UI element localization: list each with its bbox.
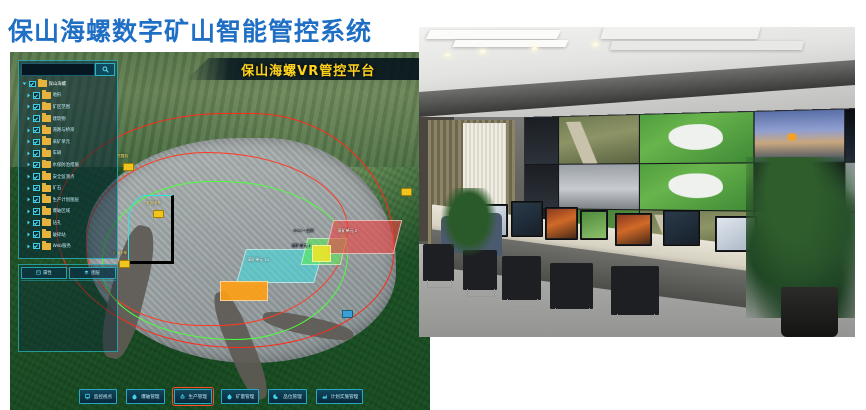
folder-icon (42, 138, 51, 145)
mining-unit-zone[interactable] (312, 245, 331, 261)
folder-icon (42, 243, 51, 250)
mining-unit-zone[interactable] (325, 220, 403, 254)
potted-plant (441, 188, 498, 256)
vehicle-label: 矿用卡车 (147, 201, 161, 206)
layer-tree-item-label: 破碎站 (53, 232, 66, 238)
layer-visibility-checkbox[interactable] (33, 185, 40, 192)
video-wall-screen (640, 163, 753, 210)
video-wall-screen (754, 109, 843, 162)
vr-map-screenshot[interactable]: RCC一台阶 采矿单元 10 采矿单元 2 采矿单元 1 挖掘机 矿用卡车 矿用… (10, 52, 430, 410)
layer-tree-item-label: 道路与桥梁 (53, 127, 75, 133)
layers-icon (84, 270, 89, 275)
vehicle-marker[interactable] (119, 260, 130, 268)
layer-tree-item-label: Web服务 (53, 243, 71, 249)
layer-tree-item-label: 矿区范围 (53, 104, 71, 110)
toolbar-button-2[interactable]: 生产管理 (174, 389, 212, 404)
layer-tree-item[interactable]: 采矿单元 (22, 136, 115, 148)
attribute-tab-label: 属性 (43, 270, 52, 276)
layer-tree-item[interactable]: 车辆 (22, 148, 115, 160)
page-title: 保山海螺数字矿山智能管控系统 (8, 12, 372, 48)
layer-tree-item-label: 采矿单元 (53, 139, 71, 145)
layer-tree-item[interactable]: 地形 (22, 90, 115, 102)
desk-monitor (511, 201, 544, 237)
attribute-panel-body (21, 280, 116, 350)
ore-icon (226, 393, 233, 400)
toolbar-button-5[interactable]: 计划实施管理 (316, 389, 364, 404)
desk-monitor (615, 213, 652, 246)
attribute-tab-label: 图层 (91, 270, 100, 276)
folder-icon (38, 80, 47, 87)
layer-visibility-checkbox[interactable] (33, 220, 40, 227)
plant-pot (781, 287, 838, 337)
layer-tree-item[interactable]: 道路与桥梁 (22, 124, 115, 136)
chevron-right-icon[interactable] (26, 116, 31, 121)
folder-icon (42, 208, 51, 215)
attribute-tab-0[interactable]: 属性 (21, 267, 68, 279)
zone-label: 采矿单元 2 (338, 229, 357, 233)
production-icon (179, 393, 186, 400)
monitor-icon (84, 393, 91, 400)
chevron-right-icon[interactable] (26, 197, 31, 202)
chevron-right-icon[interactable] (26, 162, 31, 167)
folder-icon (42, 196, 51, 203)
video-wall-screen (845, 108, 855, 162)
vehicle-label: 挖掘机 (117, 154, 128, 159)
layer-tree-item[interactable]: 安全监测点 (22, 171, 115, 183)
video-wall-screen (525, 117, 558, 164)
toolbar-button-4[interactable]: 品位管理 (268, 389, 306, 404)
chevron-down-icon[interactable] (22, 81, 27, 86)
chevron-right-icon[interactable] (26, 174, 31, 179)
vr-platform-banner-text: 保山海螺VR管控平台 (241, 60, 375, 79)
toolbar-button-3[interactable]: 矿量管理 (221, 389, 259, 404)
search-button[interactable] (95, 63, 115, 76)
video-wall-screen (559, 164, 639, 209)
zone-label: 采矿单元 10 (247, 258, 269, 262)
folder-icon (42, 127, 51, 134)
layer-tree-item-label: 生产计划图层 (53, 197, 79, 203)
layer-visibility-checkbox[interactable] (33, 162, 40, 169)
vehicle-marker[interactable] (153, 210, 164, 218)
layer-tree-item[interactable]: 破碎站 (22, 229, 115, 241)
layer-tree-item-label: 地形 (53, 92, 62, 98)
layer-tree-item-label: 矿石 (53, 185, 62, 191)
chevron-right-icon[interactable] (26, 93, 31, 98)
toolbar-button-label: 爆破管理 (141, 394, 159, 400)
blast-icon (131, 393, 138, 400)
layer-tree-item[interactable]: 保山海螺 (22, 78, 115, 90)
layer-tree-item[interactable]: 矿区范围 (22, 101, 115, 113)
layer-visibility-checkbox[interactable] (33, 173, 40, 180)
layer-tree-item-label: 保山海螺 (49, 81, 67, 87)
ceiling-light (593, 43, 598, 46)
toolbar-button-1[interactable]: 爆破管理 (126, 389, 164, 404)
vehicle-marker[interactable] (342, 310, 353, 318)
desk-monitor (663, 210, 700, 246)
layer-visibility-checkbox[interactable] (33, 231, 40, 238)
chevron-right-icon[interactable] (26, 244, 31, 249)
toolbar-button-label: 生产管理 (189, 394, 207, 400)
layer-tree-item-label: 钻孔 (53, 220, 62, 226)
grade-icon (273, 393, 280, 400)
folder-icon (42, 185, 51, 192)
chevron-right-icon[interactable] (26, 128, 31, 133)
layer-tree-item[interactable]: 矿石 (22, 182, 115, 194)
search-icon (102, 66, 109, 73)
desk-monitor (580, 210, 608, 240)
attribute-tab-1[interactable]: 图层 (69, 267, 116, 279)
chevron-right-icon[interactable] (26, 220, 31, 225)
vr-platform-banner: 保山海螺VR管控平台 (186, 58, 430, 80)
layer-search-input[interactable] (21, 63, 95, 76)
attribute-panel-tabs[interactable]: 属性图层 (21, 267, 116, 279)
layer-visibility-checkbox[interactable] (33, 208, 40, 215)
table-icon (36, 270, 41, 275)
ceiling-light (532, 47, 537, 50)
layer-visibility-checkbox[interactable] (33, 150, 40, 157)
mining-unit-zone[interactable] (220, 281, 268, 301)
layer-tree-item[interactable]: 水保防治措施 (22, 159, 115, 171)
control-room-photo (419, 27, 855, 337)
chevron-right-icon[interactable] (26, 186, 31, 191)
zone-label: RCC一台阶 (294, 229, 315, 233)
folder-icon (42, 103, 51, 110)
chevron-right-icon[interactable] (26, 104, 31, 109)
ceiling-light (480, 50, 485, 53)
layer-visibility-checkbox[interactable] (33, 243, 40, 250)
attribute-panel[interactable]: 属性图层 (18, 264, 118, 352)
layer-search-row[interactable] (21, 63, 115, 76)
ceiling-panel (610, 41, 804, 50)
office-chair (502, 256, 541, 299)
toolbar-button-0[interactable]: 监控视点 (79, 389, 117, 404)
chevron-right-icon[interactable] (26, 151, 31, 156)
layer-tree-item-label: 水保防治措施 (53, 162, 79, 168)
video-wall-screen (640, 112, 753, 163)
chevron-right-icon[interactable] (26, 139, 31, 144)
toolbar-button-label: 品位管理 (283, 394, 301, 400)
folder-icon (42, 115, 51, 122)
folder-icon (42, 173, 51, 180)
office-chair (550, 263, 594, 310)
video-wall-screen (559, 115, 639, 164)
map-bottom-toolbar[interactable]: 监控视点爆破管理生产管理矿量管理品位管理计划实施管理 (18, 389, 424, 404)
vehicle-marker[interactable] (401, 188, 412, 196)
layer-visibility-checkbox[interactable] (33, 196, 40, 203)
desk-monitor (545, 207, 578, 240)
layer-tree-item[interactable]: Web服务 (22, 240, 115, 252)
layer-tree-list[interactable]: 保山海螺地形矿区范围建筑物道路与桥梁采矿单元车辆水保防治措施安全监测点矿石生产计… (22, 78, 115, 252)
ceiling-light (445, 54, 450, 57)
folder-icon (42, 161, 51, 168)
zone-label: 采矿单元 1 (291, 244, 310, 248)
layer-visibility-checkbox[interactable] (33, 104, 40, 111)
layer-visibility-checkbox[interactable] (33, 139, 40, 146)
layer-visibility-checkbox[interactable] (33, 127, 40, 134)
layer-tree-item-label: 车辆 (53, 150, 62, 156)
folder-icon (42, 231, 51, 238)
vehicle-marker[interactable] (123, 163, 134, 171)
layer-tree-item[interactable]: 钻孔 (22, 217, 115, 229)
plan-icon (321, 393, 328, 400)
office-chair (611, 266, 659, 316)
toolbar-button-label: 监控视点 (94, 394, 112, 400)
folder-icon (42, 219, 51, 226)
layer-tree-item[interactable]: 建筑物 (22, 113, 115, 125)
folder-icon (42, 92, 51, 99)
chevron-right-icon[interactable] (26, 232, 31, 237)
layer-tree-panel[interactable]: 保山海螺地形矿区范围建筑物道路与桥梁采矿单元车辆水保防治措施安全监测点矿石生产计… (18, 60, 118, 259)
layer-visibility-checkbox[interactable] (33, 92, 40, 99)
chevron-right-icon[interactable] (26, 209, 31, 214)
layer-tree-item-label: 爆破区域 (53, 208, 71, 214)
ceiling-panel (600, 27, 761, 39)
toolbar-button-label: 计划实施管理 (331, 394, 359, 400)
layer-visibility-checkbox[interactable] (33, 115, 40, 122)
layer-tree-item-label: 建筑物 (53, 116, 66, 122)
layer-tree-item-label: 安全监测点 (53, 174, 75, 180)
toolbar-button-label: 矿量管理 (236, 394, 254, 400)
folder-icon (42, 150, 51, 157)
layer-tree-item[interactable]: 生产计划图层 (22, 194, 115, 206)
ceiling-panel (426, 30, 561, 39)
layer-tree-item[interactable]: 爆破区域 (22, 206, 115, 218)
layer-visibility-checkbox[interactable] (29, 81, 36, 88)
ceiling-panel (452, 40, 568, 47)
